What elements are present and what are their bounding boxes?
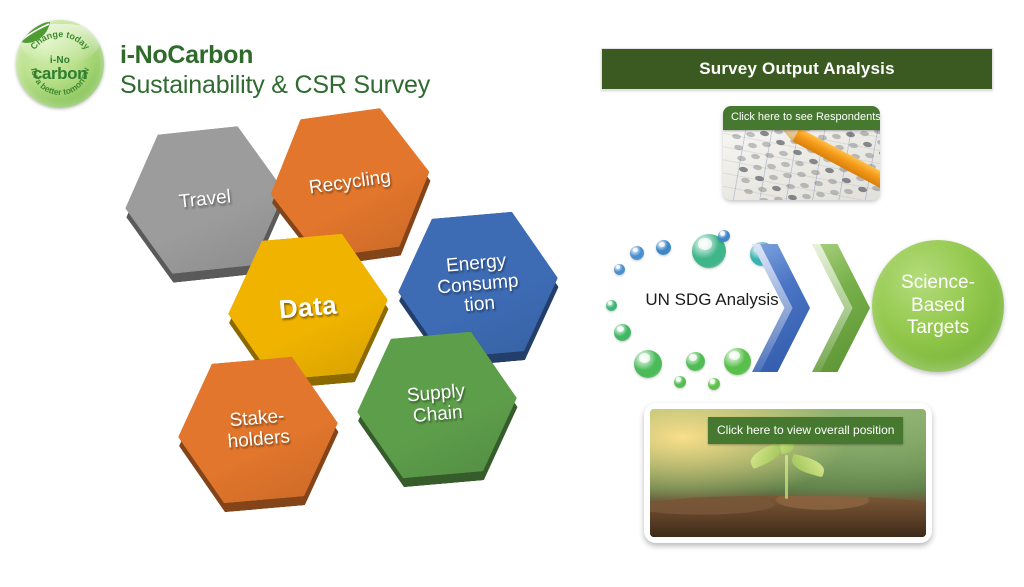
- hexagon-face: [351, 328, 523, 481]
- science-based-targets-label: Science-BasedTargets: [901, 272, 975, 340]
- page-title: i-NoCarbon: [120, 41, 253, 70]
- soil: [650, 496, 926, 537]
- sdg-bubble-12: [724, 348, 751, 375]
- sdg-bubble-2: [718, 230, 730, 242]
- hexagon-face: [172, 353, 344, 506]
- survey-output-analysis-header: Survey Output Analysis: [601, 48, 993, 90]
- stem: [785, 455, 788, 499]
- panel-header-label: Survey Output Analysis: [699, 59, 895, 79]
- overall-position-badge[interactable]: Click here to view overall position: [708, 417, 903, 444]
- slide-canvas: Change today for a better tomorrow i-No …: [0, 0, 1024, 587]
- i-nocarbon-logo: Change today for a better tomorrow i-No …: [16, 20, 104, 108]
- leaf-icon: [16, 20, 52, 46]
- science-based-targets-circle[interactable]: Science-BasedTargets: [872, 240, 1004, 372]
- sdg-analysis-group: UN SDG Analysis Science-BasedTargets: [600, 228, 1010, 388]
- hexagon-stakeholders[interactable]: Stake-holders: [172, 353, 344, 506]
- sdg-bubble-1: [656, 240, 671, 255]
- chevron-right-green-icon: [812, 244, 870, 372]
- overall-position-card[interactable]: Click here to view overall position: [644, 403, 932, 543]
- sdg-bubble-8: [606, 300, 617, 311]
- respondents-card[interactable]: Click here to see Respondents: [723, 106, 880, 200]
- brand-header: Change today for a better tomorrow i-No …: [14, 16, 574, 110]
- logo-line-2: carbon: [16, 64, 104, 84]
- seedling-image: Click here to view overall position: [650, 409, 926, 537]
- sdg-bubble-11: [686, 352, 705, 371]
- sdg-bubble-10: [634, 350, 662, 378]
- sdg-bubble-4: [614, 264, 625, 275]
- sdg-bubble-15: [708, 378, 720, 390]
- survey-category-hexagons: TravelRecyclingDataEnergyConsumptionStak…: [95, 105, 595, 505]
- sdg-bubble-14: [674, 376, 686, 388]
- leaf-right: [789, 454, 826, 478]
- sdg-bubble-3: [630, 246, 644, 260]
- sdg-bubble-9: [614, 324, 631, 341]
- hexagon-supply[interactable]: SupplyChain: [351, 328, 523, 481]
- page-subtitle: Sustainability & CSR Survey: [120, 71, 430, 100]
- chevron-right-blue-icon: [752, 244, 810, 372]
- respondents-badge[interactable]: Click here to see Respondents: [723, 106, 880, 130]
